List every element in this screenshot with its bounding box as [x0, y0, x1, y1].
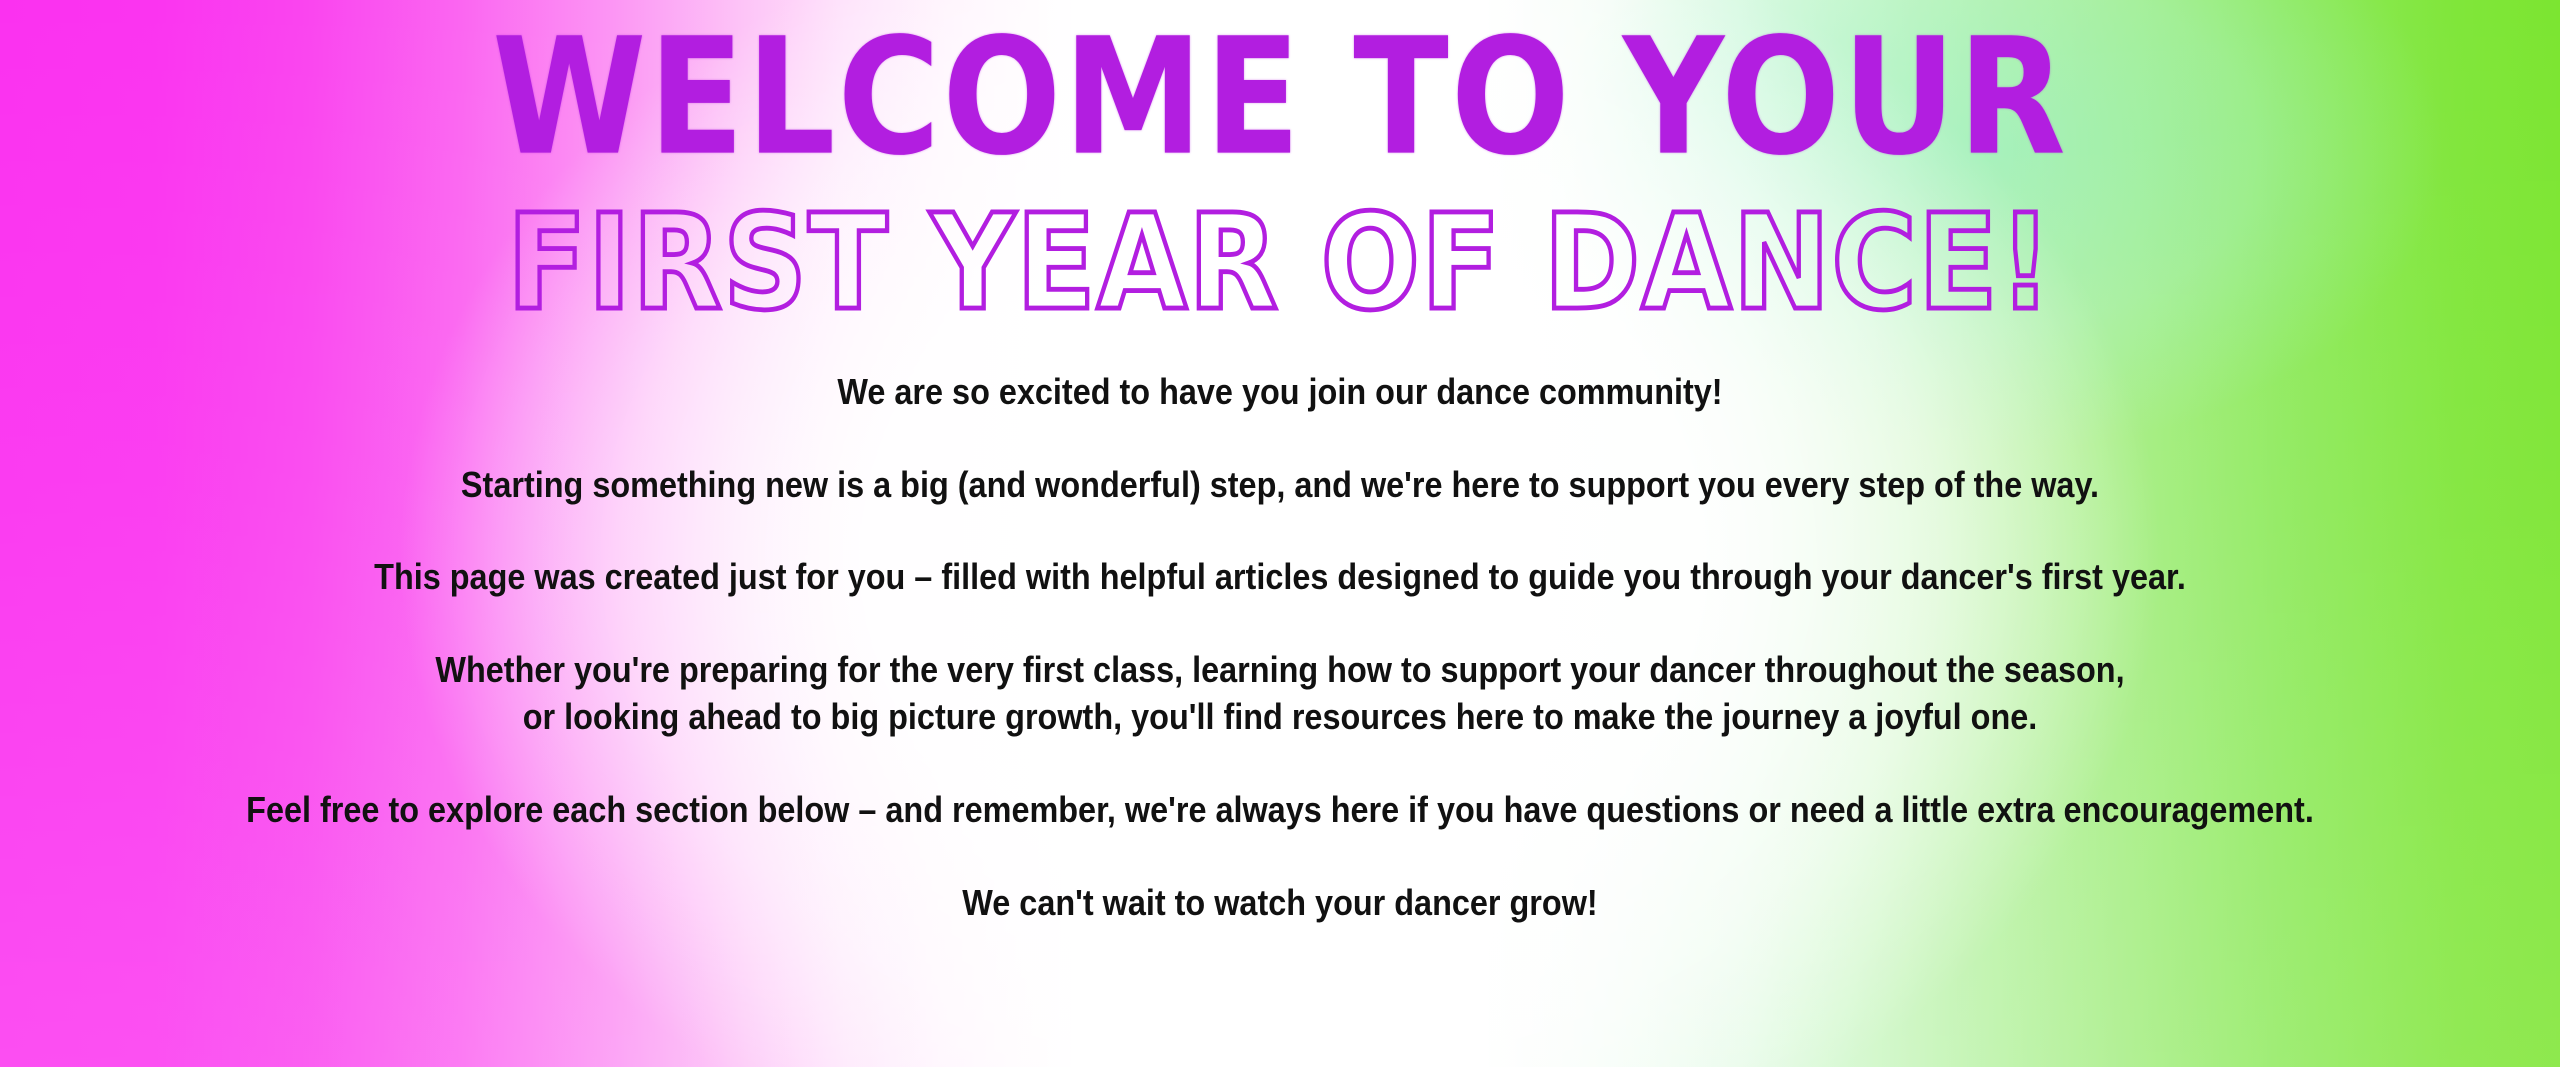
paragraph-intro: We are so excited to have you join our d…	[209, 369, 2351, 416]
paragraph-line: Starting something new is a big (and won…	[209, 462, 2351, 509]
paragraph-closing: We can't wait to watch your dancer grow!	[209, 880, 2351, 927]
paragraph-line: We can't wait to watch your dancer grow!	[209, 880, 2351, 927]
paragraph-page-purpose: This page was created just for you – fil…	[209, 554, 2351, 601]
body-copy: We are so excited to have you join our d…	[209, 369, 2351, 927]
paragraph-line: We are so excited to have you join our d…	[209, 369, 2351, 416]
paragraph-starting-new: Starting something new is a big (and won…	[209, 462, 2351, 509]
headline-line-1: WELCOME TO YOUR	[0, 16, 2560, 180]
welcome-banner: WELCOME TO YOUR FIRST YEAR OF DANCE! We …	[0, 0, 2560, 1067]
paragraph-line: Whether you're preparing for the very fi…	[209, 647, 2351, 694]
paragraph-line: or looking ahead to big picture growth, …	[209, 694, 2351, 741]
banner-content: WELCOME TO YOUR FIRST YEAR OF DANCE! We …	[0, 0, 2560, 1067]
paragraph-line: This page was created just for you – fil…	[209, 554, 2351, 601]
paragraph-explore-sections: Feel free to explore each section below …	[209, 787, 2351, 834]
paragraph-whether-preparing: Whether you're preparing for the very fi…	[209, 647, 2351, 741]
paragraph-line: Feel free to explore each section below …	[209, 787, 2351, 834]
headline-line-2-outlined: FIRST YEAR OF DANCE!	[0, 197, 2560, 331]
headline-block: WELCOME TO YOUR FIRST YEAR OF DANCE!	[0, 0, 2560, 307]
